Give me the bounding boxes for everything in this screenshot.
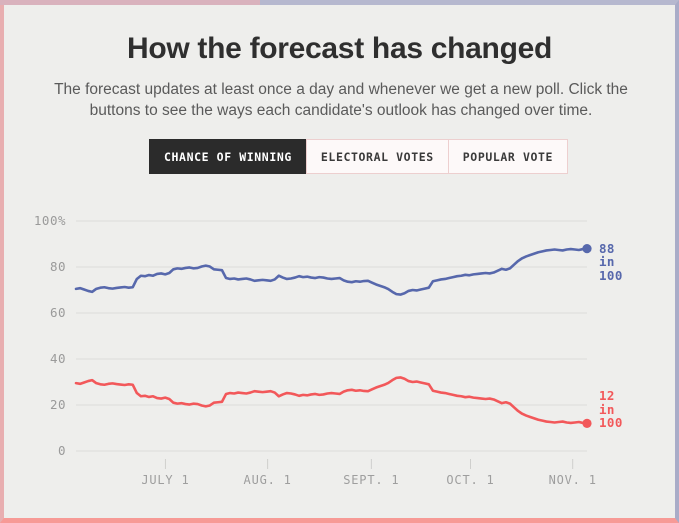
annotation-blue-value: 88 <box>599 242 623 256</box>
annotation-blue-mid: in <box>599 255 623 269</box>
annotation-blue-denom: 100 <box>599 269 623 283</box>
end-annotation-blue: 88in100 <box>599 242 623 283</box>
series-line-blue <box>76 249 587 295</box>
forecast-chart: 020406080100% JULY 1AUG. 1SEPT. 1OCT. 1N… <box>4 201 675 511</box>
y-tick-label: 60 <box>4 305 66 320</box>
y-tick-label: 40 <box>4 351 66 366</box>
y-tick-label: 20 <box>4 397 66 412</box>
browser-frame: How the forecast has changed The forecas… <box>0 0 679 523</box>
page-title: How the forecast has changed <box>4 32 675 66</box>
annotation-red-value: 12 <box>599 389 623 403</box>
chart-svg <box>4 201 675 511</box>
article-card: How the forecast has changed The forecas… <box>4 5 675 518</box>
series-line-red <box>76 377 587 423</box>
x-tick-label: AUG. 1 <box>208 473 328 487</box>
tab-electoral-votes[interactable]: ELECTORAL VOTES <box>306 139 449 174</box>
y-tick-label: 100% <box>4 213 66 228</box>
x-tick-label: NOV. 1 <box>513 473 633 487</box>
y-tick-label: 80 <box>4 259 66 274</box>
series-endpoint-dot-blue <box>582 244 591 253</box>
y-tick-label: 0 <box>4 443 66 458</box>
end-annotation-red: 12in100 <box>599 389 623 430</box>
page-subtitle: The forecast updates at least once a day… <box>34 79 648 121</box>
tab-popular-vote[interactable]: POPULAR VOTE <box>448 139 568 174</box>
view-tab-group: CHANCE OF WINNINGELECTORAL VOTESPOPULAR … <box>149 139 568 174</box>
annotation-red-denom: 100 <box>599 416 623 430</box>
annotation-red-mid: in <box>599 403 623 417</box>
tab-chance-of-winning[interactable]: CHANCE OF WINNING <box>149 139 307 174</box>
series-endpoint-dot-red <box>582 419 591 428</box>
